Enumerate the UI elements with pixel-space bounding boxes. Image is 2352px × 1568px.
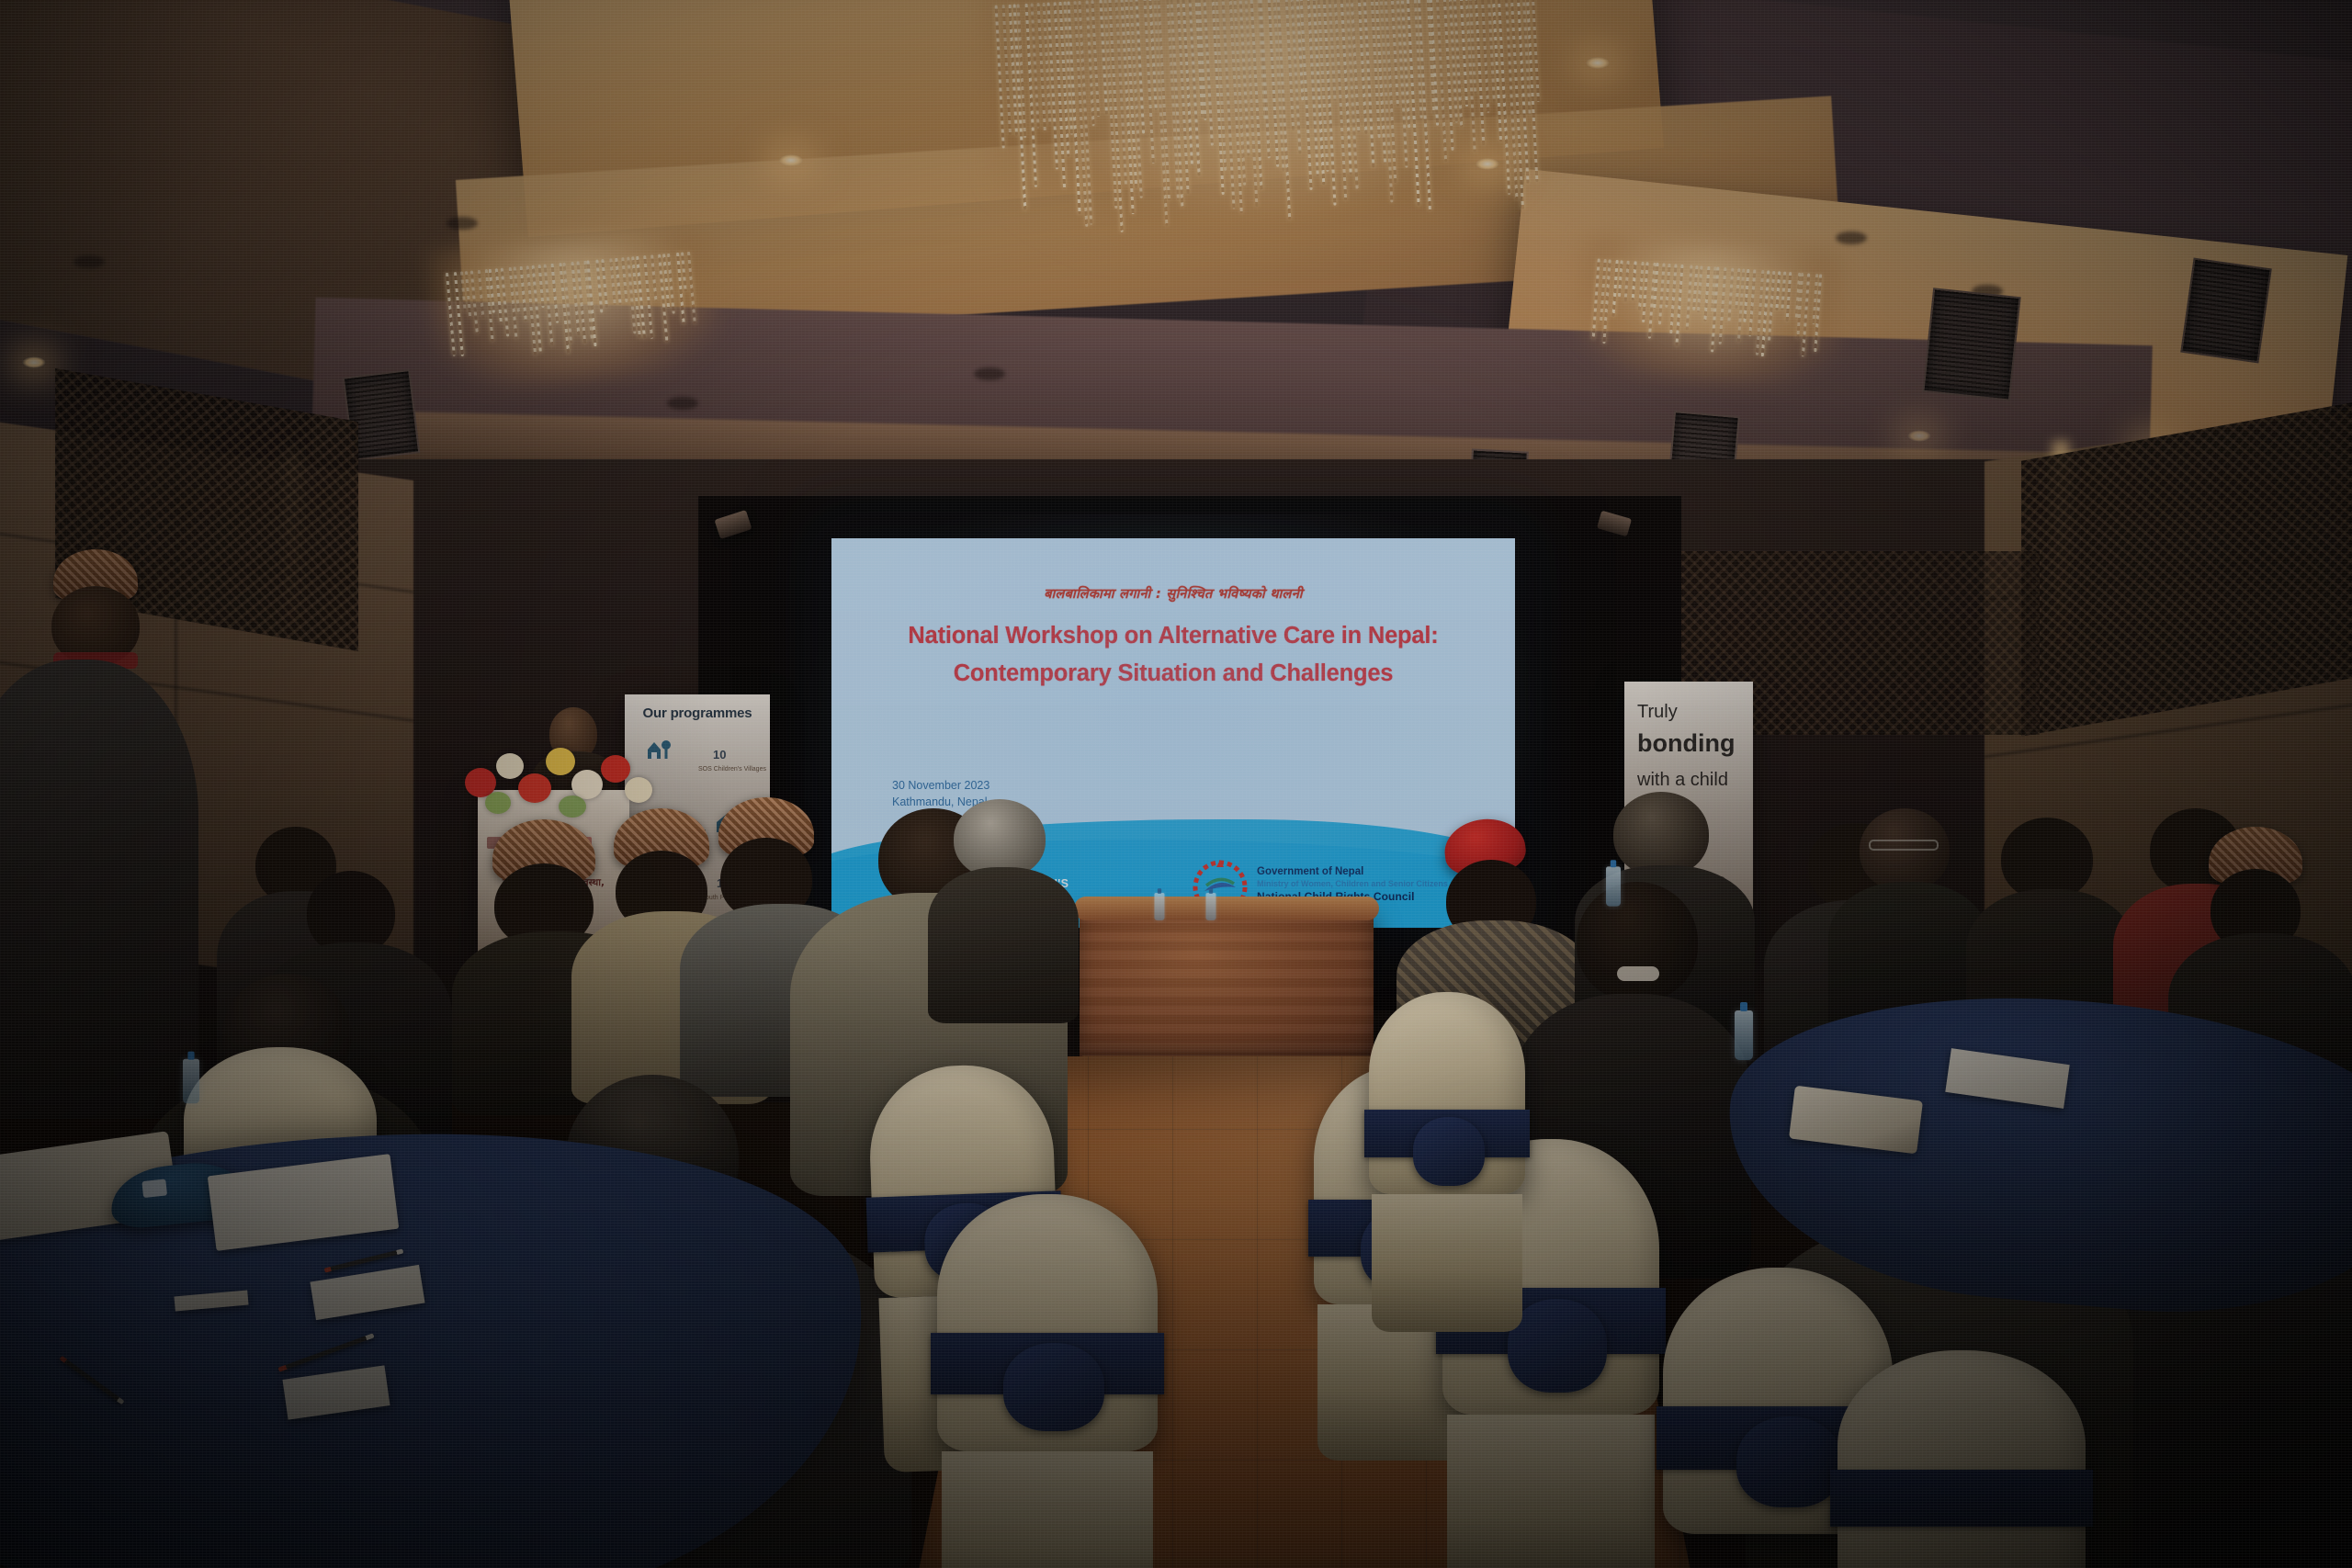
chair-bow (1003, 1343, 1104, 1430)
slide-nepali-subtitle: बालबालिकामा लगानी : सुनिश्चित भविष्यको थ… (831, 584, 1515, 603)
wall-mesh-panel (2021, 402, 2352, 736)
cap-logo-icon (141, 1179, 167, 1198)
water-bottle (1206, 893, 1216, 920)
foliage (485, 792, 511, 814)
eyeglasses-icon (1869, 840, 1939, 851)
downlight-icon (22, 356, 46, 368)
slide-date: 30 November 2023 (892, 777, 989, 794)
sofa-backrest (1074, 897, 1379, 920)
chair-sash (1830, 1470, 2093, 1527)
head (1577, 882, 1698, 1001)
ceiling-speaker-icon (974, 367, 1005, 380)
chair-bow (1508, 1299, 1608, 1393)
water-bottle (1735, 1010, 1753, 1060)
flower (496, 753, 524, 779)
flower (518, 773, 551, 803)
head (1613, 792, 1709, 876)
ceiling-speaker-icon (447, 217, 478, 230)
hvac-grille (1922, 288, 2020, 400)
banquet-chair[interactable] (937, 1194, 1158, 1451)
flower (625, 777, 652, 803)
water-bottle (1606, 866, 1621, 906)
downlight-icon (779, 154, 803, 166)
chair-skirt (1372, 1194, 1521, 1332)
body (928, 867, 1079, 1023)
slide-title-line-1: National Workshop on Alternative Care in… (831, 617, 1515, 655)
banquet-chair[interactable] (1369, 992, 1525, 1194)
main-chandelier-icon (996, 0, 1550, 243)
audience-member-grey-hair (928, 799, 1075, 1010)
foliage (559, 795, 586, 818)
chair-bow (1413, 1117, 1485, 1186)
water-bottle (183, 1059, 199, 1104)
chair-skirt (1447, 1415, 1656, 1568)
downlight-icon (1476, 158, 1499, 170)
downlight-icon (1907, 430, 1931, 442)
flower-arrangement (458, 735, 669, 819)
banquet-chair[interactable] (1837, 1350, 2086, 1568)
hair-tie (1617, 966, 1659, 981)
flower (546, 748, 575, 775)
ceiling-speaker-icon (1836, 231, 1867, 244)
stage-sofa (1080, 909, 1374, 1061)
flower (571, 770, 603, 799)
flower (601, 755, 630, 783)
head (2001, 818, 2093, 900)
conference-hall-photo: बालबालिकामा लगानी : सुनिश्चित भविष्यको थ… (0, 0, 2352, 1568)
water-bottle (1155, 893, 1165, 920)
slide-title: National Workshop on Alternative Care in… (831, 617, 1515, 694)
ceiling-speaker-icon (667, 397, 698, 410)
chair-skirt (942, 1451, 1153, 1568)
ceiling-speaker-icon (73, 255, 105, 268)
hvac-grille (2180, 258, 2272, 364)
downlight-icon (1586, 57, 1610, 69)
left-chandelier-icon (447, 251, 702, 368)
slide-title-line-2: Contemporary Situation and Challenges (831, 655, 1515, 693)
chair-bow (1736, 1416, 1842, 1507)
right-chandelier-icon (1591, 258, 1826, 366)
